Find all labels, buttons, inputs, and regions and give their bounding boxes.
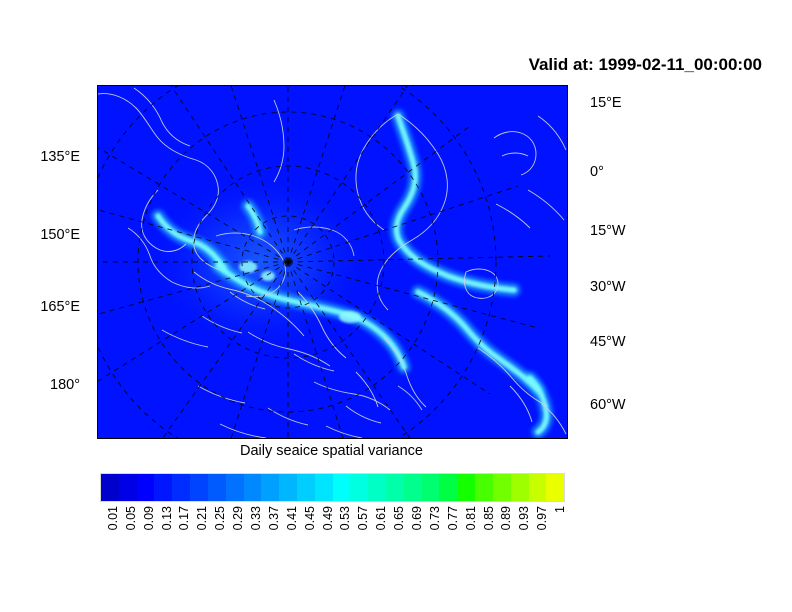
axis-label-right-0: 15°E <box>590 95 622 111</box>
colorbar-segment-24 <box>529 474 547 501</box>
colorbar-segment-5 <box>190 474 208 501</box>
colorbar-tick-0.85: 0.85 <box>482 506 496 530</box>
colorbar-segment-15 <box>368 474 386 501</box>
colorbar-tick-0.97: 0.97 <box>535 506 549 530</box>
colorbar-tick-0.53: 0.53 <box>338 506 352 530</box>
colorbar-tick-0.73: 0.73 <box>428 506 442 530</box>
colorbar-segment-1 <box>119 474 137 501</box>
colorbar-segment-11 <box>297 474 315 501</box>
colorbar-gradient <box>100 473 565 502</box>
colorbar-tick-0.49: 0.49 <box>321 506 335 530</box>
colorbar-segment-14 <box>350 474 368 501</box>
colorbar-segment-20 <box>457 474 475 501</box>
colorbar-tick-0.41: 0.41 <box>285 506 299 530</box>
colorbar-segment-10 <box>279 474 297 501</box>
axis-label-right-3: 30°W <box>590 279 626 295</box>
colorbar-tick-0.57: 0.57 <box>356 506 370 530</box>
colorbar-tick-0.61: 0.61 <box>374 506 388 530</box>
colorbar-tick-labels: 0.010.050.090.130.170.210.250.290.330.37… <box>100 506 565 566</box>
colorbar-segment-12 <box>315 474 333 501</box>
colorbar-segment-21 <box>475 474 493 501</box>
colorbar-tick-0.01: 0.01 <box>106 506 120 530</box>
colorbar-segment-19 <box>439 474 457 501</box>
colorbar-segment-17 <box>404 474 422 501</box>
colorbar-segment-9 <box>261 474 279 501</box>
axis-label-left-3: 180° <box>0 377 80 393</box>
axis-label-left-0: 135°E <box>0 149 80 165</box>
colorbar-segment-23 <box>511 474 529 501</box>
colorbar-tick-0.89: 0.89 <box>499 506 513 530</box>
colorbar-tick-0.09: 0.09 <box>142 506 156 530</box>
colorbar-segment-0 <box>101 474 119 501</box>
colorbar-tick-0.77: 0.77 <box>446 506 460 530</box>
colorbar-segment-8 <box>244 474 262 501</box>
colorbar-segment-3 <box>154 474 172 501</box>
plot-caption: Daily seaice spatial variance <box>97 443 566 459</box>
colorbar-tick-0.21: 0.21 <box>195 506 209 530</box>
colorbar-segment-2 <box>137 474 155 501</box>
colorbar-segment-4 <box>172 474 190 501</box>
axis-label-left-2: 165°E <box>0 299 80 315</box>
axis-label-right-4: 45°W <box>590 334 626 350</box>
colorbar-segment-7 <box>226 474 244 501</box>
colorbar-tick-0.93: 0.93 <box>517 506 531 530</box>
colorbar-tick-0.17: 0.17 <box>177 506 191 530</box>
colorbar-segment-18 <box>422 474 440 501</box>
axis-label-left-1: 150°E <box>0 227 80 243</box>
colorbar-tick-0.81: 0.81 <box>464 506 478 530</box>
colorbar-tick-0.45: 0.45 <box>303 506 317 530</box>
colorbar-tick-0.37: 0.37 <box>267 506 281 530</box>
colorbar-tick-0.69: 0.69 <box>410 506 424 530</box>
map-plot-area <box>97 85 568 439</box>
colorbar-segment-13 <box>333 474 351 501</box>
axis-label-right-2: 15°W <box>590 223 626 239</box>
axis-label-right-5: 60°W <box>590 397 626 413</box>
colorbar-tick-0.65: 0.65 <box>392 506 406 530</box>
colorbar-segment-22 <box>493 474 511 501</box>
colorbar-tick-0.33: 0.33 <box>249 506 263 530</box>
page-title: Valid at: 1999-02-11_00:00:00 <box>529 55 762 75</box>
axis-label-right-1: 0° <box>590 164 604 180</box>
colorbar-tick-0.05: 0.05 <box>124 506 138 530</box>
colorbar-segment-16 <box>386 474 404 501</box>
polar-stereographic-map <box>98 86 567 438</box>
colorbar-tick-0.25: 0.25 <box>213 506 227 530</box>
colorbar-segment-6 <box>208 474 226 501</box>
colorbar-segment-25 <box>546 474 564 501</box>
colorbar <box>100 473 565 502</box>
colorbar-tick-1: 1 <box>553 506 567 513</box>
colorbar-tick-0.29: 0.29 <box>231 506 245 530</box>
colorbar-tick-0.13: 0.13 <box>160 506 174 530</box>
